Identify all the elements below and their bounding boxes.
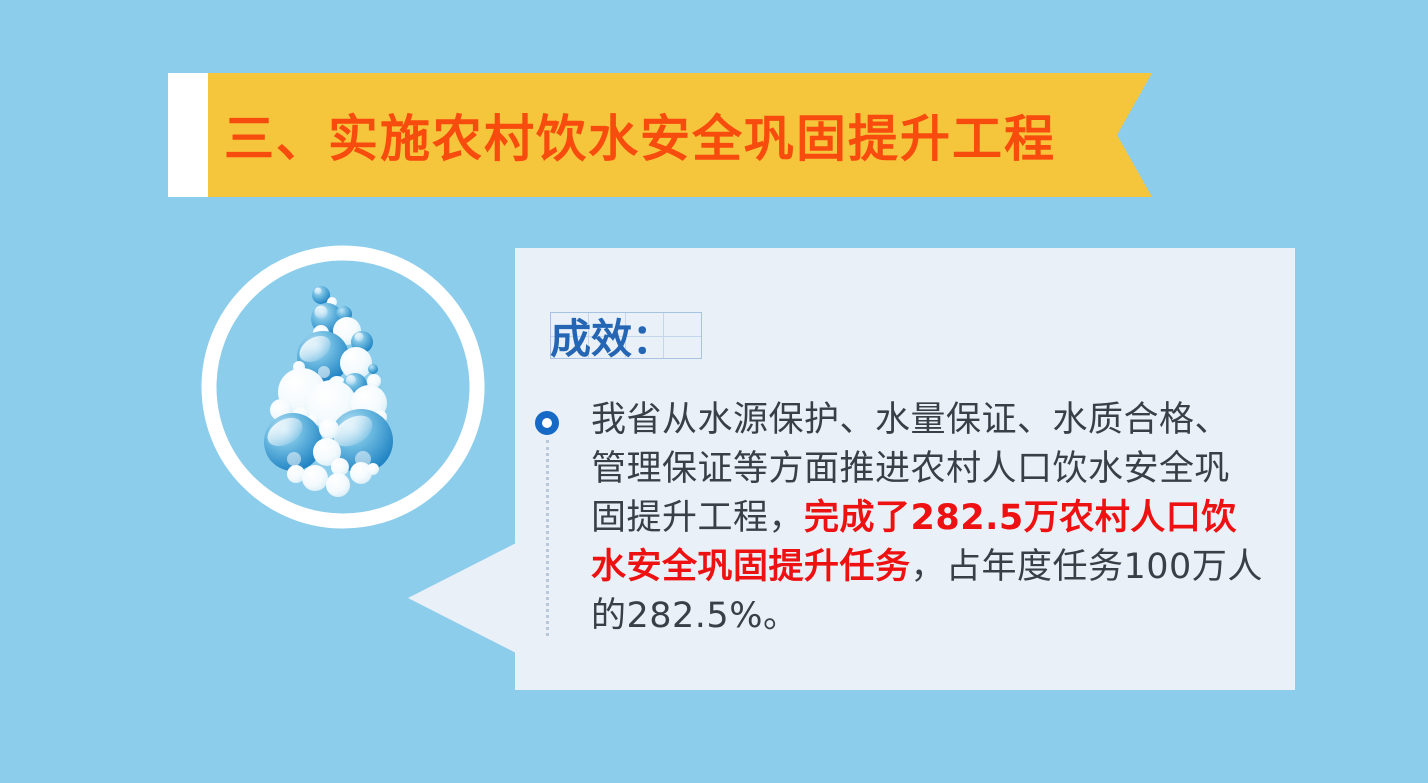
banner-white-tab — [168, 73, 208, 197]
grid-cell — [589, 313, 627, 358]
speech-bubble-tail — [408, 543, 516, 653]
grid-cell — [626, 313, 664, 358]
dotted-rail — [546, 440, 549, 636]
section-banner: 三、实施农村饮水安全巩固提升工程 — [168, 73, 1152, 197]
water-droplet-bubbles-icon — [201, 245, 485, 529]
achievement-body-text: 我省从水源保护、水量保证、水质合格、管理保证等方面推进农村人口饮水安全巩固提升工… — [591, 396, 1263, 641]
page-title: 三、实施农村饮水安全巩固提升工程 — [224, 99, 1056, 171]
bullet-core — [542, 418, 552, 428]
grid-cell — [664, 313, 702, 358]
grid-cell — [551, 313, 589, 358]
label-writing-grid — [550, 312, 702, 359]
achievement-card: 成效： 我省从水源保护、水量保证、水质合格、管理保证等方面推进农村人口饮水安全巩… — [515, 248, 1295, 690]
donut-bullet-icon — [535, 411, 559, 435]
